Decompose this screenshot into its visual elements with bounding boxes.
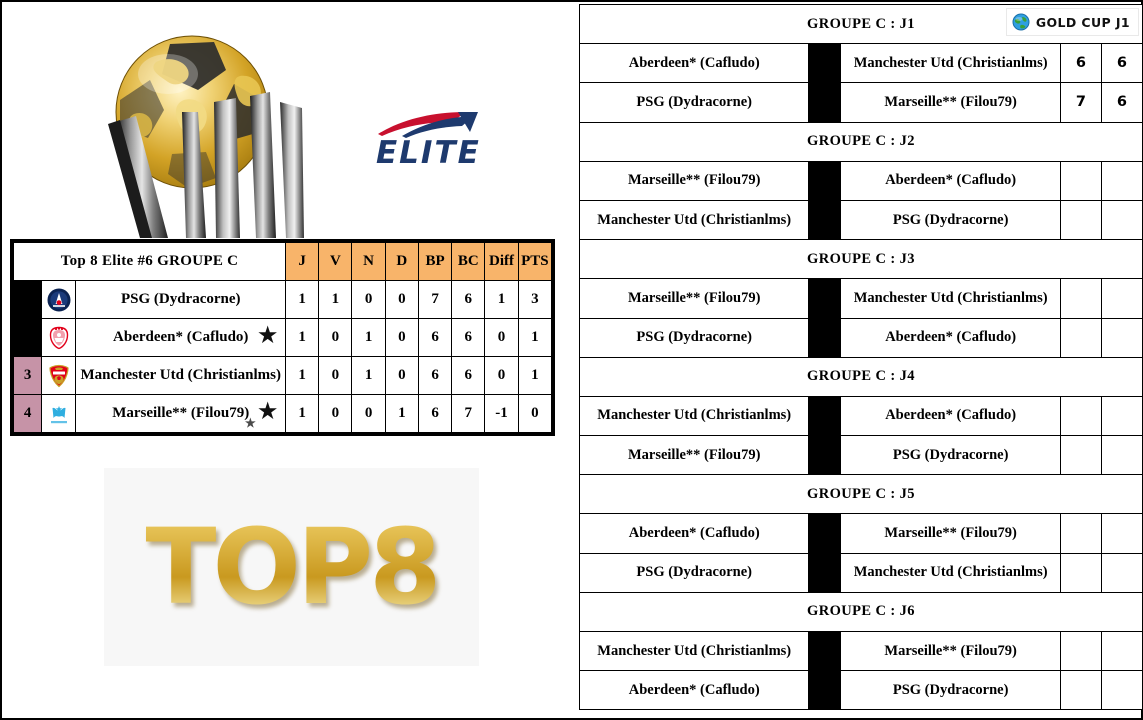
schedule-day-header: GROUPE C : J6	[580, 592, 1143, 631]
standings-pts-value: 3	[518, 281, 551, 319]
standings-team-name: PSG (Dydracorne)	[121, 291, 241, 308]
match-away-score[interactable]	[1101, 553, 1142, 592]
match-away-team: Manchester Utd (Christianlms)	[841, 553, 1060, 592]
vs-s: s	[828, 175, 832, 187]
vs-s: s	[828, 450, 832, 462]
standings-row: 3Manchester Utd (Christianlms)10106601	[14, 357, 552, 395]
standings-j-value: 1	[286, 357, 319, 395]
standings-rank: 3	[14, 357, 42, 395]
standings-title: Top 8 Elite #6 GROUPE C	[14, 243, 286, 281]
vs-s: s	[828, 646, 832, 658]
standings-bc-value: 6	[452, 281, 485, 319]
standings-j-value: 1	[286, 281, 319, 319]
standings-n-value: 1	[352, 319, 385, 357]
match-away-team: Manchester Utd (Christianlms)	[841, 279, 1060, 318]
match-away-score[interactable]	[1101, 436, 1142, 475]
match-vs-label: Vs	[809, 161, 841, 200]
standings-pts-value: 1	[518, 357, 551, 395]
match-away-team: Aberdeen* (Cafludo)	[841, 318, 1060, 357]
schedule-day-header: GROUPE C : J1GOLD CUP J1	[580, 5, 1143, 44]
match-vs-label: Vs	[809, 671, 841, 710]
top8-text: TOP8	[104, 468, 479, 666]
standings-n-value: 0	[352, 395, 385, 433]
vs-s: s	[828, 97, 832, 109]
schedule-day-label: GROUPE C : J6	[807, 603, 915, 620]
vs-v: V	[817, 682, 828, 698]
match-away-score[interactable]: 6	[1101, 83, 1142, 122]
match-vs-label: Vs	[809, 436, 841, 475]
standings-j-value: 1	[286, 319, 319, 357]
vs-s: s	[828, 685, 832, 697]
standings-d-value: 0	[385, 319, 418, 357]
match-away-team: Aberdeen* (Cafludo)	[841, 161, 1060, 200]
vs-v: V	[817, 329, 828, 345]
standings-diff-value: -1	[485, 395, 518, 433]
match-home-score[interactable]: 7	[1060, 83, 1101, 122]
vs-s: s	[828, 410, 832, 422]
schedule-match-row: Manchester Utd (Christianlms)VsAberdeen*…	[580, 396, 1143, 435]
standings-team-cell: Manchester Utd (Christianlms)	[76, 357, 286, 395]
standings-n-value: 1	[352, 357, 385, 395]
schedule-match-row: Aberdeen* (Cafludo)VsMarseille** (Filou7…	[580, 514, 1143, 553]
standings-table-container: Top 8 Elite #6 GROUPE CJVNDBPBCDiffPTS1P…	[10, 239, 555, 436]
match-vs-label: Vs	[809, 200, 841, 239]
match-vs-label: Vs	[809, 83, 841, 122]
schedule-match-row: Marseille** (Filou79)VsAberdeen* (Caflud…	[580, 161, 1143, 200]
standings-team-cell: Aberdeen* (Cafludo)★	[76, 319, 286, 357]
match-home-team: Aberdeen* (Cafludo)	[580, 671, 809, 710]
standings-col-v: V	[319, 243, 352, 281]
vs-v: V	[817, 94, 828, 110]
schedule-day-header-cell: GROUPE C : J6	[580, 592, 1143, 631]
standings-pts-value: 0	[518, 395, 551, 433]
aberdeen-crest-icon	[42, 319, 76, 357]
schedule-day-label: GROUPE C : J5	[807, 486, 915, 503]
schedule-day-header-cell: GROUPE C : J4	[580, 357, 1143, 396]
standings-team-cell: PSG (Dydracorne)	[76, 281, 286, 319]
standings-v-value: 0	[319, 319, 352, 357]
schedule-match-row: Marseille** (Filou79)VsPSG (Dydracorne)	[580, 436, 1143, 475]
match-home-team: Manchester Utd (Christianlms)	[580, 396, 809, 435]
schedule-match-row: Aberdeen* (Cafludo)VsPSG (Dydracorne)	[580, 671, 1143, 710]
match-home-team: Manchester Utd (Christianlms)	[580, 200, 809, 239]
match-vs-label: Vs	[809, 553, 841, 592]
match-vs-label: Vs	[809, 279, 841, 318]
match-home-score[interactable]	[1060, 396, 1101, 435]
schedule-day-label: GROUPE C : J3	[807, 251, 915, 268]
standings-team-name: Aberdeen* (Cafludo)	[113, 329, 248, 346]
match-away-team: PSG (Dydracorne)	[841, 671, 1060, 710]
schedule-day-label: GROUPE C : J1	[807, 16, 915, 33]
star-icon: ★	[245, 323, 279, 353]
match-home-score[interactable]	[1060, 632, 1101, 671]
match-away-team: Marseille** (Filou79)	[841, 632, 1060, 671]
standings-v-value: 1	[319, 281, 352, 319]
standings-team-name: Manchester Utd (Christianlms)	[80, 367, 281, 384]
vs-s: s	[828, 58, 832, 70]
standings-v-value: 0	[319, 357, 352, 395]
match-home-team: PSG (Dydracorne)	[580, 318, 809, 357]
standings-j-value: 1	[286, 395, 319, 433]
standings-d-value: 0	[385, 281, 418, 319]
standings-d-value: 1	[385, 395, 418, 433]
manutd-crest-icon	[42, 357, 76, 395]
match-away-score[interactable]	[1101, 396, 1142, 435]
vs-v: V	[817, 290, 828, 306]
schedule-day-header: GROUPE C : J2	[580, 122, 1143, 161]
standings-col-bc: BC	[452, 243, 485, 281]
left-column: ELITE Top 8 Elite #6 GROUPE CJVNDBPBCDif…	[2, 2, 562, 720]
double-star-icon: ★★	[245, 399, 279, 429]
marseille-crest-icon	[42, 395, 76, 433]
match-home-score[interactable]	[1060, 318, 1101, 357]
standings-row: 2Aberdeen* (Cafludo)★10106601	[14, 319, 552, 357]
match-away-team: Marseille** (Filou79)	[841, 514, 1060, 553]
schedule-day-header-cell: GROUPE C : J1GOLD CUP J1	[580, 5, 1143, 44]
vs-v: V	[817, 447, 828, 463]
match-vs-label: Vs	[809, 396, 841, 435]
standings-bc-value: 7	[452, 395, 485, 433]
standings-bp-value: 6	[418, 357, 451, 395]
standings-col-diff: Diff	[485, 243, 518, 281]
match-home-team: PSG (Dydracorne)	[580, 553, 809, 592]
match-vs-label: Vs	[809, 514, 841, 553]
match-vs-label: Vs	[809, 44, 841, 83]
schedule-match-row: Marseille** (Filou79)VsManchester Utd (C…	[580, 279, 1143, 318]
schedule-column: GROUPE C : J1GOLD CUP J1Aberdeen* (Caflu…	[579, 4, 1143, 720]
match-home-score[interactable]	[1060, 671, 1101, 710]
gold-globe-trophy-icon	[64, 4, 324, 238]
match-home-team: PSG (Dydracorne)	[580, 83, 809, 122]
standings-col-n: N	[352, 243, 385, 281]
match-away-score[interactable]	[1101, 200, 1142, 239]
vs-s: s	[828, 215, 832, 227]
vs-v: V	[817, 407, 828, 423]
standings-row: 1PSG (Dydracorne)11007613	[14, 281, 552, 319]
standings-d-value: 0	[385, 357, 418, 395]
vs-s: s	[828, 528, 832, 540]
schedule-day-label: GROUPE C : J4	[807, 368, 915, 385]
standings-rank: 2	[14, 319, 42, 357]
schedule-table: GROUPE C : J1GOLD CUP J1Aberdeen* (Caflu…	[579, 4, 1143, 710]
vs-v: V	[817, 212, 828, 228]
schedule-day-header: GROUPE C : J5	[580, 475, 1143, 514]
standings-col-j: J	[286, 243, 319, 281]
match-away-team: Manchester Utd (Christianlms)	[841, 44, 1060, 83]
schedule-day-header-cell: GROUPE C : J5	[580, 475, 1143, 514]
standings-v-value: 0	[319, 395, 352, 433]
vs-v: V	[817, 172, 828, 188]
elite-logo: ELITE	[374, 110, 514, 172]
match-away-score[interactable]: 6	[1101, 44, 1142, 83]
match-away-team: PSG (Dydracorne)	[841, 200, 1060, 239]
match-home-team: Marseille** (Filou79)	[580, 161, 809, 200]
page-root: ELITE Top 8 Elite #6 GROUPE CJVNDBPBCDif…	[0, 0, 1143, 720]
gold-cup-badge-label: GOLD CUP J1	[1036, 15, 1130, 30]
standings-bp-value: 7	[418, 281, 451, 319]
match-away-score[interactable]	[1101, 161, 1142, 200]
vs-s: s	[828, 567, 832, 579]
schedule-match-row: PSG (Dydracorne)VsAberdeen* (Cafludo)	[580, 318, 1143, 357]
gold-cup-badge[interactable]: GOLD CUP J1	[1006, 8, 1139, 36]
match-away-team: Marseille** (Filou79)	[841, 83, 1060, 122]
match-home-team: Aberdeen* (Cafludo)	[580, 44, 809, 83]
match-away-team: PSG (Dydracorne)	[841, 436, 1060, 475]
standings-team-cell: Marseille** (Filou79)★★	[76, 395, 286, 433]
schedule-match-row: PSG (Dydracorne)VsMarseille** (Filou79)7…	[580, 83, 1143, 122]
match-home-team: Marseille** (Filou79)	[580, 436, 809, 475]
match-home-score[interactable]: 6	[1060, 44, 1101, 83]
schedule-day-header: GROUPE C : J4	[580, 357, 1143, 396]
schedule-match-row: PSG (Dydracorne)VsManchester Utd (Christ…	[580, 553, 1143, 592]
match-vs-label: Vs	[809, 632, 841, 671]
schedule-day-header-cell: GROUPE C : J3	[580, 240, 1143, 279]
vs-v: V	[817, 525, 828, 541]
match-away-team: Aberdeen* (Cafludo)	[841, 396, 1060, 435]
standings-pts-value: 1	[518, 319, 551, 357]
schedule-day-header-cell: GROUPE C : J2	[580, 122, 1143, 161]
match-home-score[interactable]	[1060, 436, 1101, 475]
vs-v: V	[817, 564, 828, 580]
match-home-score[interactable]	[1060, 553, 1101, 592]
vs-s: s	[828, 293, 832, 305]
standings-col-bp: BP	[418, 243, 451, 281]
globe-icon	[1012, 13, 1030, 31]
vs-s: s	[828, 332, 832, 344]
standings-diff-value: 0	[485, 357, 518, 395]
match-vs-label: Vs	[809, 318, 841, 357]
match-away-score[interactable]	[1101, 632, 1142, 671]
standings-diff-value: 0	[485, 319, 518, 357]
standings-diff-value: 1	[485, 281, 518, 319]
psg-crest-icon	[42, 281, 76, 319]
standings-rank: 4	[14, 395, 42, 433]
match-away-score[interactable]	[1101, 318, 1142, 357]
standings-bc-value: 6	[452, 319, 485, 357]
standings-team-name: Marseille** (Filou79)	[112, 405, 249, 422]
match-home-score[interactable]	[1060, 279, 1101, 318]
schedule-match-row: Manchester Utd (Christianlms)VsMarseille…	[580, 632, 1143, 671]
top8-artwork: TOP8	[104, 468, 479, 666]
vs-v: V	[817, 643, 828, 659]
standings-bc-value: 6	[452, 357, 485, 395]
standings-n-value: 0	[352, 281, 385, 319]
match-home-team: Aberdeen* (Cafludo)	[580, 514, 809, 553]
match-away-score[interactable]	[1101, 514, 1142, 553]
vs-v: V	[817, 55, 828, 71]
schedule-match-row: Aberdeen* (Cafludo)VsManchester Utd (Chr…	[580, 44, 1143, 83]
schedule-day-label: GROUPE C : J2	[807, 133, 915, 150]
standings-row: 4Marseille** (Filou79)★★100167-10	[14, 395, 552, 433]
schedule-match-row: Manchester Utd (Christianlms)VsPSG (Dydr…	[580, 200, 1143, 239]
match-away-score[interactable]	[1101, 671, 1142, 710]
standings-rank: 1	[14, 281, 42, 319]
standings-bp-value: 6	[418, 395, 451, 433]
match-home-team: Marseille** (Filou79)	[580, 279, 809, 318]
standings-table: Top 8 Elite #6 GROUPE CJVNDBPBCDiffPTS1P…	[13, 242, 552, 433]
match-home-score[interactable]	[1060, 200, 1101, 239]
schedule-day-header: GROUPE C : J3	[580, 240, 1143, 279]
standings-col-pts: PTS	[518, 243, 551, 281]
standings-bp-value: 6	[418, 319, 451, 357]
match-away-score[interactable]	[1101, 279, 1142, 318]
standings-col-d: D	[385, 243, 418, 281]
match-home-score[interactable]	[1060, 161, 1101, 200]
match-home-score[interactable]	[1060, 514, 1101, 553]
match-home-team: Manchester Utd (Christianlms)	[580, 632, 809, 671]
header-banner: ELITE	[2, 2, 560, 238]
elite-wordmark: ELITE	[376, 138, 481, 169]
